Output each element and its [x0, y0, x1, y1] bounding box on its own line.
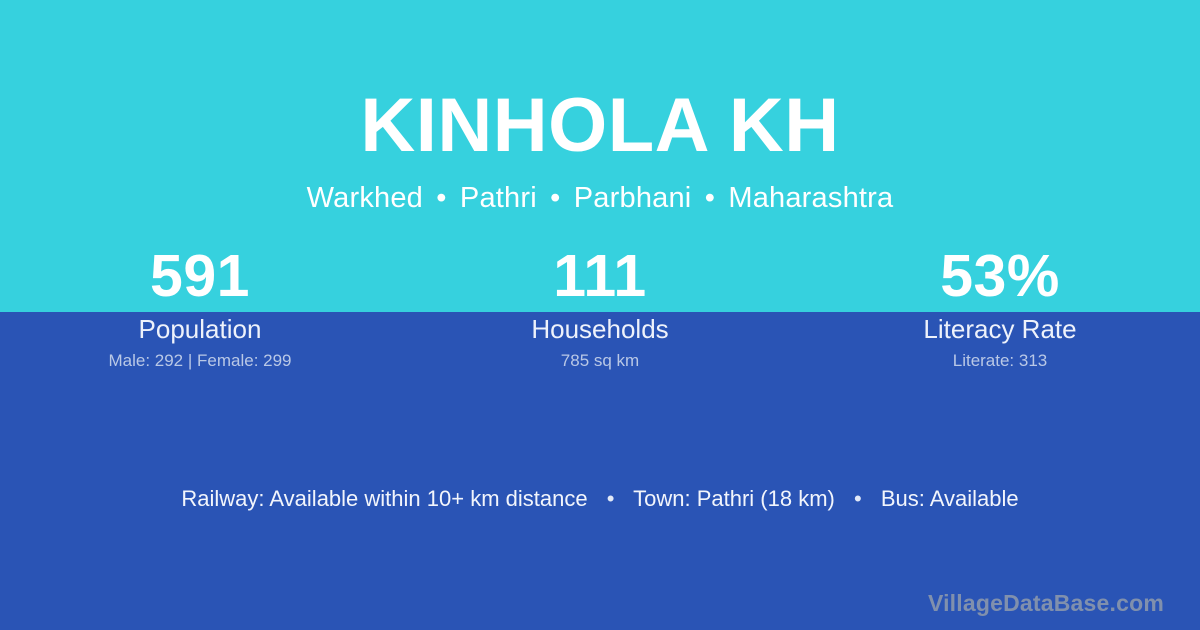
stat-households: 111 Households 785 sq km [400, 240, 800, 371]
stat-value: 111 [400, 240, 800, 312]
amenity-separator: • [841, 486, 875, 511]
breadcrumb-separator: • [545, 182, 565, 214]
breadcrumb-item-tehsil: Pathri [460, 182, 537, 214]
breadcrumb-item-state: Maharashtra [728, 182, 893, 214]
page-title: KINHOLA KH [0, 88, 1200, 164]
stat-label: Population [0, 314, 400, 344]
breadcrumb-separator: • [700, 182, 720, 214]
breadcrumb-separator: • [431, 182, 451, 214]
site-watermark: VillageDataBase.com [928, 588, 1164, 618]
amenity-separator: • [594, 486, 628, 511]
stat-literacy-rate: 53% Literacy Rate Literate: 313 [800, 240, 1200, 371]
stat-sublabel: Literate: 313 [800, 351, 1200, 371]
breadcrumb-item-district: Parbhani [574, 182, 692, 214]
stat-value: 53% [800, 240, 1200, 312]
breadcrumb: Warkhed • Pathri • Parbhani • Maharashtr… [0, 181, 1200, 216]
stat-population: 591 Population Male: 292 | Female: 299 [0, 240, 400, 371]
amenity-railway: Railway: Available within 10+ km distanc… [181, 486, 587, 511]
amenities-line: Railway: Available within 10+ km distanc… [0, 484, 1200, 514]
stat-sublabel: 785 sq km [400, 351, 800, 371]
stat-label: Households [400, 314, 800, 344]
stat-label: Literacy Rate [800, 314, 1200, 344]
amenity-bus: Bus: Available [881, 486, 1019, 511]
stat-value: 591 [0, 240, 400, 312]
stat-sublabel: Male: 292 | Female: 299 [0, 351, 400, 371]
amenity-town: Town: Pathri (18 km) [633, 486, 835, 511]
stats-row: 591 Population Male: 292 | Female: 299 1… [0, 240, 1200, 371]
village-info-card: KINHOLA KH Warkhed • Pathri • Parbhani •… [0, 0, 1200, 630]
breadcrumb-item-block: Warkhed [307, 182, 423, 214]
